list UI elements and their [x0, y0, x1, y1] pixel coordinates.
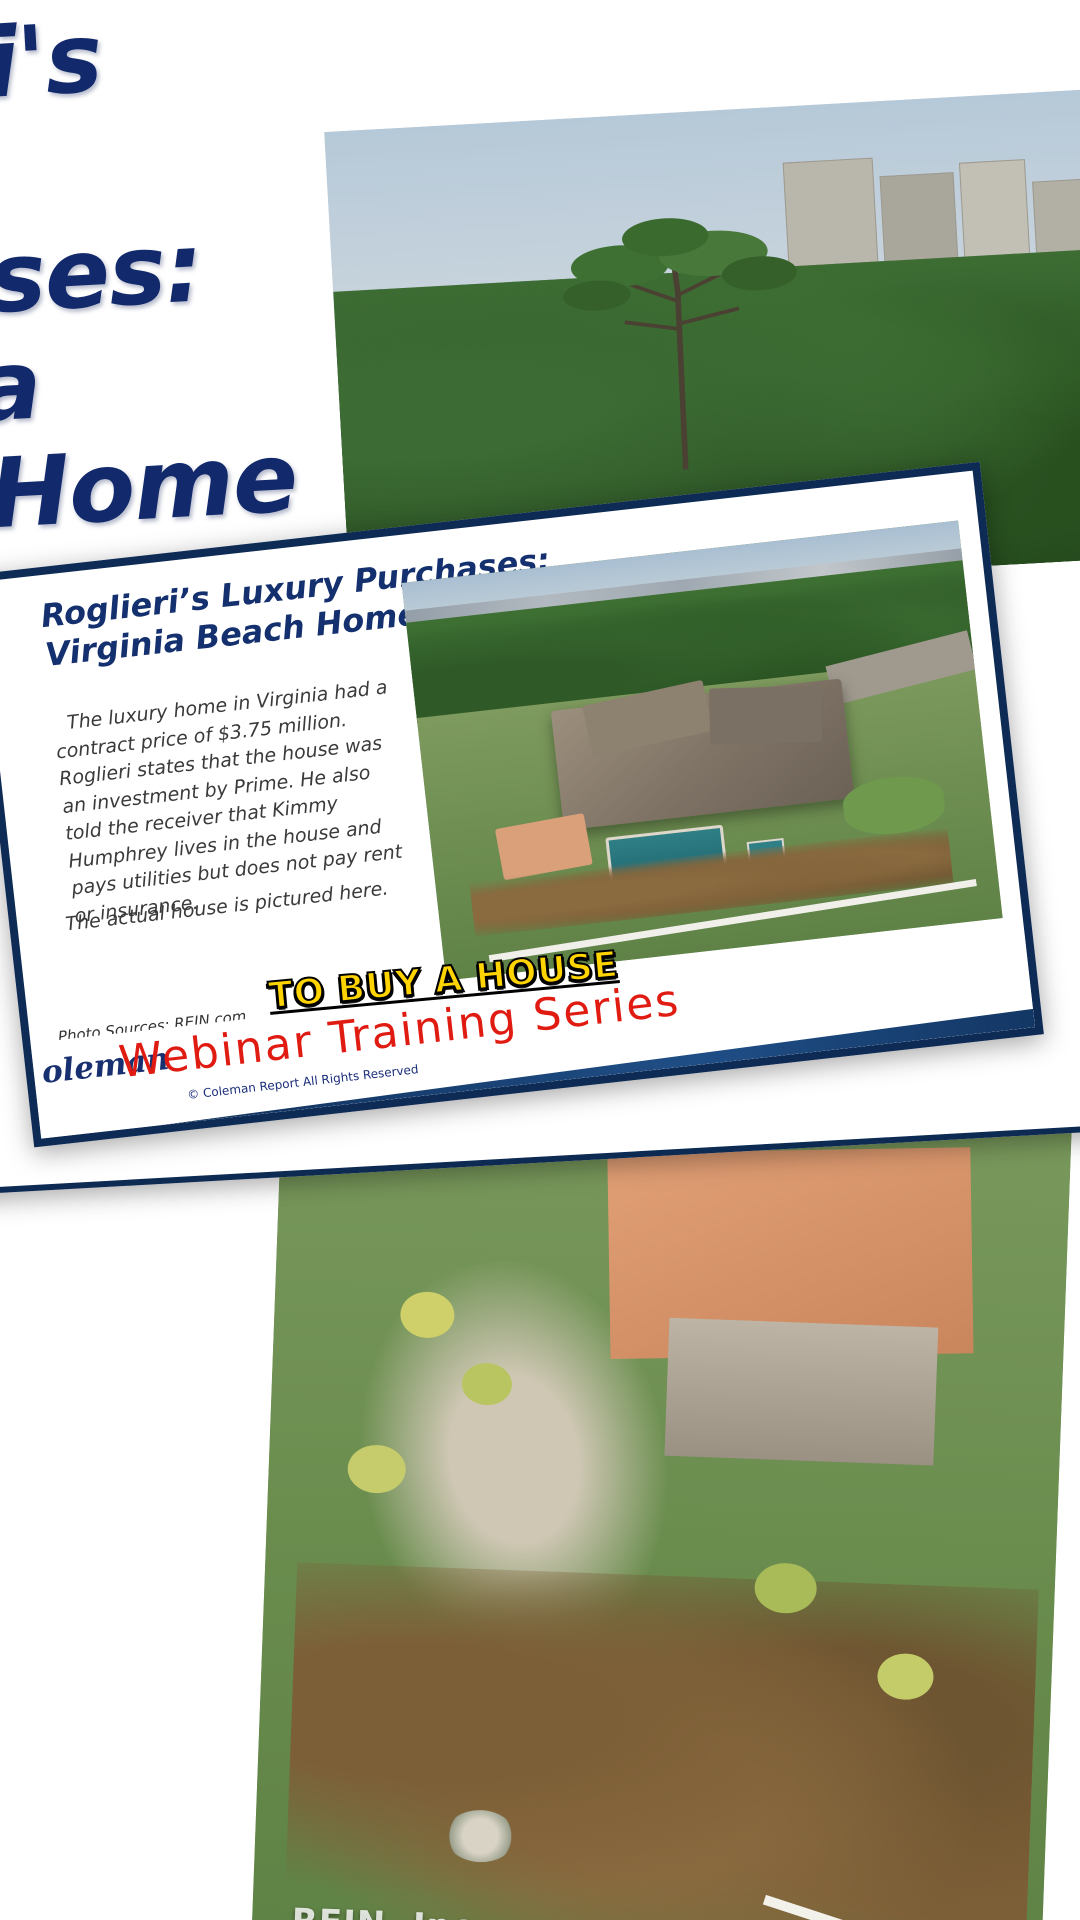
photo-garden-beds	[284, 1563, 1039, 1920]
pine-tree-icon	[536, 180, 823, 477]
shield-stars-icon	[31, 1049, 37, 1104]
mid-slide-photo	[402, 521, 1003, 981]
slide-middle: Roglieri’s Luxury Purchases: Virginia Be…	[0, 462, 1044, 1148]
screenshot-stage: Roglieri's Luxury Purchases: Virginia Be…	[0, 0, 1080, 1920]
photo-roof-right	[709, 686, 822, 745]
bottom-slide-photo: REIN, Inc. Coleman	[251, 1097, 1072, 1920]
photo-house-wall	[664, 1318, 937, 1465]
